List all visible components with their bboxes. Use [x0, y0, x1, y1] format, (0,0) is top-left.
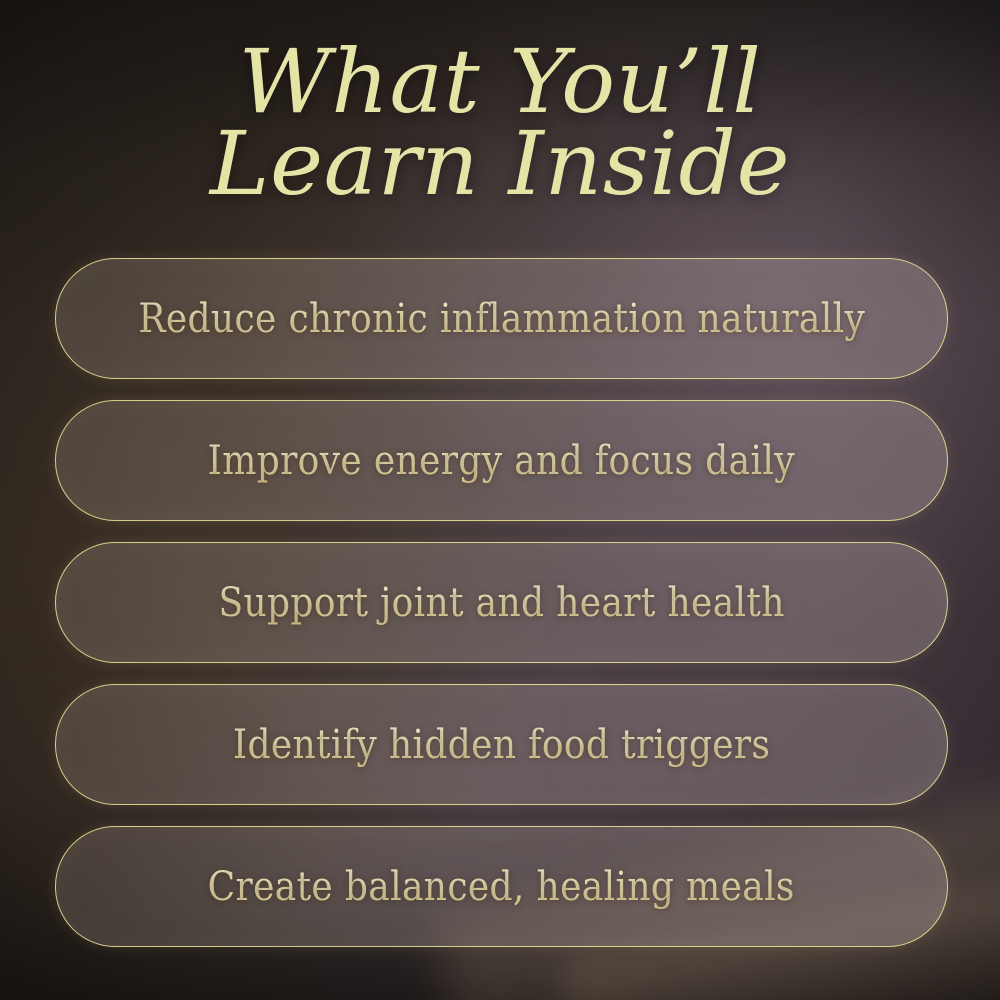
benefit-pill-2[interactable]: Improve energy and focus daily — [55, 400, 948, 521]
benefit-pill-4[interactable]: Identify hidden food triggers — [55, 684, 948, 805]
benefit-pill-1[interactable]: Reduce chronic inflammation naturally — [55, 258, 948, 379]
poster-canvas: What You’ll Learn Inside Reduce chronic … — [0, 0, 1000, 1000]
benefit-label-4: Identify hidden food triggers — [233, 723, 770, 767]
benefit-pill-3[interactable]: Support joint and heart health — [55, 542, 948, 663]
benefit-label-3: Support joint and heart health — [218, 581, 784, 625]
page-title-line-2: Learn Inside — [0, 118, 1000, 210]
benefit-pill-5[interactable]: Create balanced, healing meals — [55, 826, 948, 947]
benefits-list: Reduce chronic inflammation naturally Im… — [55, 258, 948, 947]
benefit-label-5: Create balanced, healing meals — [208, 865, 795, 909]
benefit-label-1: Reduce chronic inflammation naturally — [138, 297, 865, 341]
benefit-label-2: Improve energy and focus daily — [208, 439, 795, 483]
page-title: What You’ll Learn Inside — [0, 34, 1000, 210]
